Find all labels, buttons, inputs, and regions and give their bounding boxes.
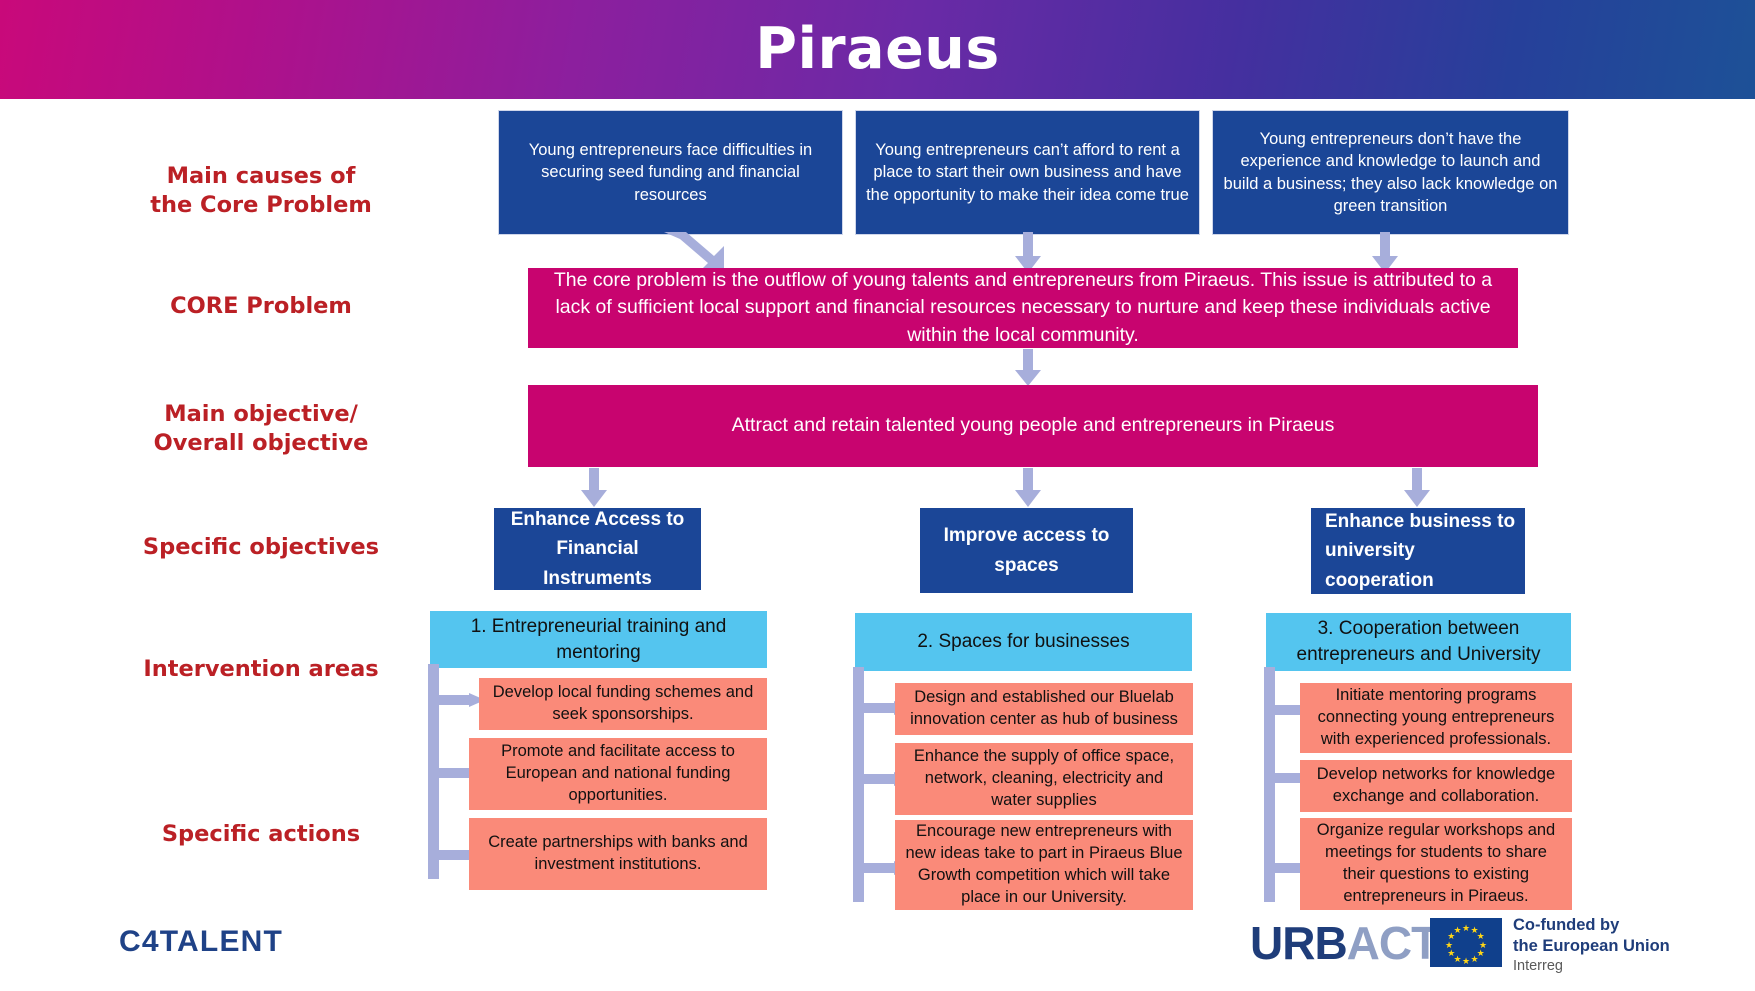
intervention-area-box-1: 1. Entrepreneurial training and mentorin… [430, 611, 767, 668]
intervention-area-box-3: 3. Cooperation between entrepreneurs and… [1266, 613, 1571, 671]
eu-funding-line3: Interreg [1513, 957, 1670, 976]
intervention-area-box-2: 2. Spaces for businesses [855, 613, 1192, 671]
eu-funding-text: Co-funded by the European Union Interreg [1513, 915, 1670, 976]
intervention-area-text-1: 1. Entrepreneurial training and mentorin… [438, 614, 759, 665]
eu-star: ★ [1453, 926, 1462, 935]
arrow-mainobj-to-specobj-1 [581, 468, 607, 508]
arrow-mainobj-to-specobj-3 [1404, 468, 1430, 508]
core-problem-box: The core problem is the outflow of young… [528, 268, 1518, 348]
cause-text-2: Young entrepreneurs can’t afford to rent… [864, 139, 1191, 206]
action-box-2-1: Design and established our Bluelab innov… [895, 683, 1193, 735]
row-label-main-objective: Main objective/Overall objective [130, 400, 392, 459]
specific-objective-box-1: Enhance Access to Financial Instruments [494, 508, 701, 590]
action-text-1-1: Develop local funding schemes and seek s… [487, 682, 759, 726]
action-text-2-3: Encourage new entrepreneurs with new ide… [903, 821, 1185, 909]
intervention-area-text-3: 3. Cooperation between entrepreneurs and… [1274, 616, 1563, 667]
header-banner: Piraeus [0, 0, 1755, 99]
specific-objective-box-3: Enhance business to university cooperati… [1311, 508, 1525, 594]
action-box-2-2: Enhance the supply of office space, netw… [895, 743, 1193, 815]
action-box-3-3: Organize regular workshops and meetings … [1300, 818, 1572, 910]
eu-funding-line2: the European Union [1513, 936, 1670, 957]
core-problem-text: The core problem is the outflow of young… [536, 267, 1510, 349]
action-text-2-1: Design and established our Bluelab innov… [903, 687, 1185, 731]
cause-text-1: Young entrepreneurs face difficulties in… [507, 139, 834, 206]
action-box-2-3: Encourage new entrepreneurs with new ide… [895, 820, 1193, 910]
cause-box-3: Young entrepreneurs don’t have the exper… [1212, 110, 1569, 235]
row-label-intervention-areas: Intervention areas [130, 655, 392, 684]
intervention-area-text-2: 2. Spaces for businesses [863, 629, 1184, 655]
specific-objective-box-2: Improve access to spaces [920, 508, 1133, 593]
page-title: Piraeus [755, 21, 1000, 78]
row-label-main-causes: Main causes ofthe Core Problem [130, 162, 392, 221]
action-box-1-3: Create partnerships with banks and inves… [469, 818, 767, 890]
urbact-logo: URBACT [1250, 916, 1438, 970]
cause-box-2: Young entrepreneurs can’t afford to rent… [855, 110, 1200, 235]
action-text-3-2: Develop networks for knowledge exchange … [1308, 764, 1564, 808]
eu-star: ★ [1445, 941, 1454, 950]
eu-flag-icon: ★ ★ ★ ★ ★ ★ ★ ★ ★ ★ ★ ★ [1430, 918, 1502, 967]
eu-star: ★ [1447, 949, 1456, 958]
action-text-1-2: Promote and facilitate access to Europea… [477, 741, 759, 807]
action-box-1-2: Promote and facilitate access to Europea… [469, 738, 767, 810]
arrow-mainobj-to-specobj-2 [1015, 468, 1041, 508]
row-label-specific-actions: Specific actions [130, 820, 392, 849]
specific-objective-text-2: Improve access to spaces [928, 521, 1125, 580]
cause-box-1: Young entrepreneurs face difficulties in… [498, 110, 843, 235]
main-objective-box: Attract and retain talented young people… [528, 385, 1538, 467]
action-box-3-1: Initiate mentoring programs connecting y… [1300, 683, 1572, 753]
action-box-3-2: Develop networks for knowledge exchange … [1300, 760, 1572, 812]
row-label-core-problem: CORE Problem [130, 292, 392, 321]
urbact-logo-act: ACT [1347, 917, 1439, 969]
action-text-2-2: Enhance the supply of office space, netw… [903, 746, 1185, 812]
action-text-3-3: Organize regular workshops and meetings … [1308, 820, 1564, 908]
eu-star: ★ [1470, 955, 1479, 964]
specific-objective-text-1: Enhance Access to Financial Instruments [502, 505, 693, 593]
slide-canvas: Piraeus Main causes ofthe Core Problem C… [0, 0, 1755, 991]
action-text-3-1: Initiate mentoring programs connecting y… [1308, 685, 1564, 751]
urbact-logo-urb: URB [1250, 917, 1347, 969]
action-box-1-1: Develop local funding schemes and seek s… [479, 678, 767, 730]
c4talent-logo: C4TALENT [119, 925, 283, 959]
specific-objective-text-3: Enhance business to university cooperati… [1325, 507, 1517, 595]
arrow-core-to-main-objective [1015, 349, 1041, 387]
action-text-1-3: Create partnerships with banks and inves… [477, 832, 759, 876]
cause-text-3: Young entrepreneurs don’t have the exper… [1221, 128, 1560, 217]
eu-funding-line1: Co-funded by [1513, 915, 1670, 936]
eu-star: ★ [1462, 957, 1471, 966]
row-label-specific-objectives: Specific objectives [130, 533, 392, 562]
main-objective-text: Attract and retain talented young people… [536, 412, 1530, 439]
